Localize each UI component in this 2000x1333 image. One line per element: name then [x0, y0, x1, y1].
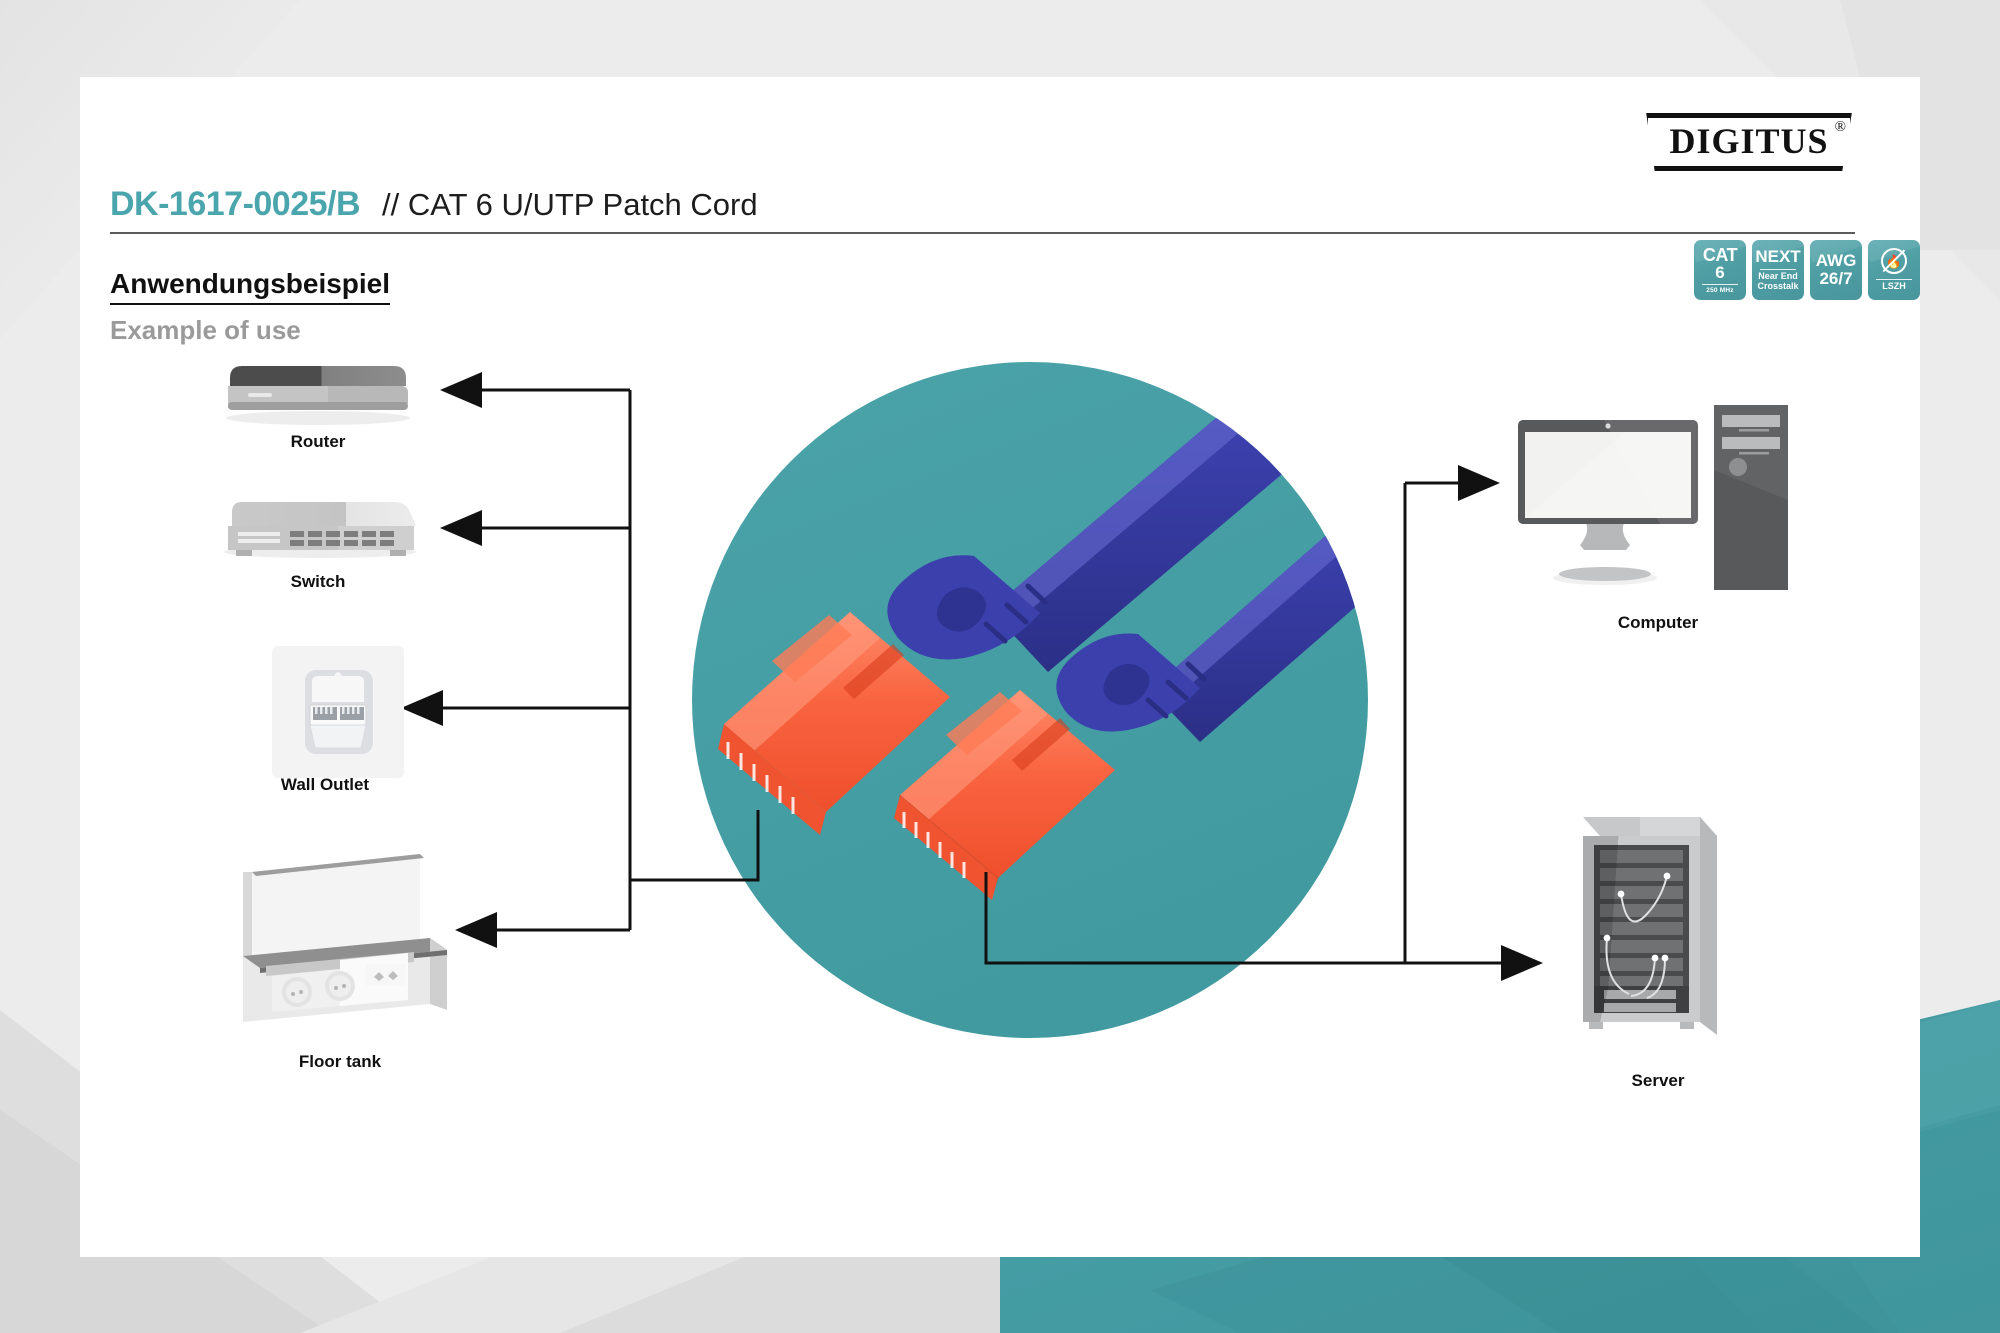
registered-mark-icon: ®	[1835, 119, 1846, 136]
label-router: Router	[291, 432, 346, 452]
lszh-badge: 🔥 LSZH	[1868, 240, 1920, 300]
lszh-badge-footnote: LSZH	[1882, 282, 1906, 292]
server-device-icon	[1583, 817, 1717, 1035]
computer-device-icon	[1518, 405, 1788, 590]
next-badge-line3: Crosstalk	[1757, 282, 1798, 292]
divider	[1702, 284, 1738, 285]
floor-tank-device-icon	[243, 854, 447, 1022]
product-description: // CAT 6 U/UTP Patch Cord	[382, 187, 758, 223]
no-flame-icon: 🔥	[1881, 248, 1907, 274]
cat-badge: CAT 6 250 MHz	[1694, 240, 1746, 300]
label-floor-tank: Floor tank	[299, 1052, 381, 1072]
label-computer: Computer	[1618, 613, 1698, 633]
divider	[1760, 269, 1796, 270]
awg-badge-line2: 26/7	[1819, 270, 1852, 288]
cat-badge-footnote: 250 MHz	[1706, 287, 1733, 294]
label-server: Server	[1632, 1071, 1685, 1091]
switch-device-icon	[224, 502, 416, 558]
divider	[1876, 279, 1912, 280]
cat-badge-line1: CAT	[1703, 246, 1737, 264]
product-sku: DK-1617-0025/B	[110, 185, 360, 224]
label-switch: Switch	[291, 572, 346, 592]
next-badge: NEXT Near End Crosstalk	[1752, 240, 1804, 300]
section-headings: Anwendungsbeispiel Example of use	[110, 268, 390, 346]
awg-badge-line1: AWG	[1816, 252, 1857, 270]
awg-badge: AWG 26/7	[1810, 240, 1862, 300]
section-heading-en: Example of use	[110, 315, 390, 346]
logo-wordmark: DIGITUS	[1643, 113, 1855, 171]
page-title: DK-1617-0025/B // CAT 6 U/UTP Patch Cord	[110, 185, 1855, 234]
wall-outlet-device-icon	[272, 646, 404, 778]
label-wall-outlet: Wall Outlet	[281, 775, 369, 795]
digitus-logo: DIGITUS ®	[1643, 113, 1855, 171]
section-heading-de: Anwendungsbeispiel	[110, 268, 390, 305]
cat-badge-line2: 6	[1715, 264, 1724, 282]
next-badge-line1: NEXT	[1755, 248, 1800, 266]
spec-badge-group: CAT 6 250 MHz NEXT Near End Crosstalk AW…	[1694, 240, 1920, 300]
router-device-icon	[226, 366, 410, 425]
